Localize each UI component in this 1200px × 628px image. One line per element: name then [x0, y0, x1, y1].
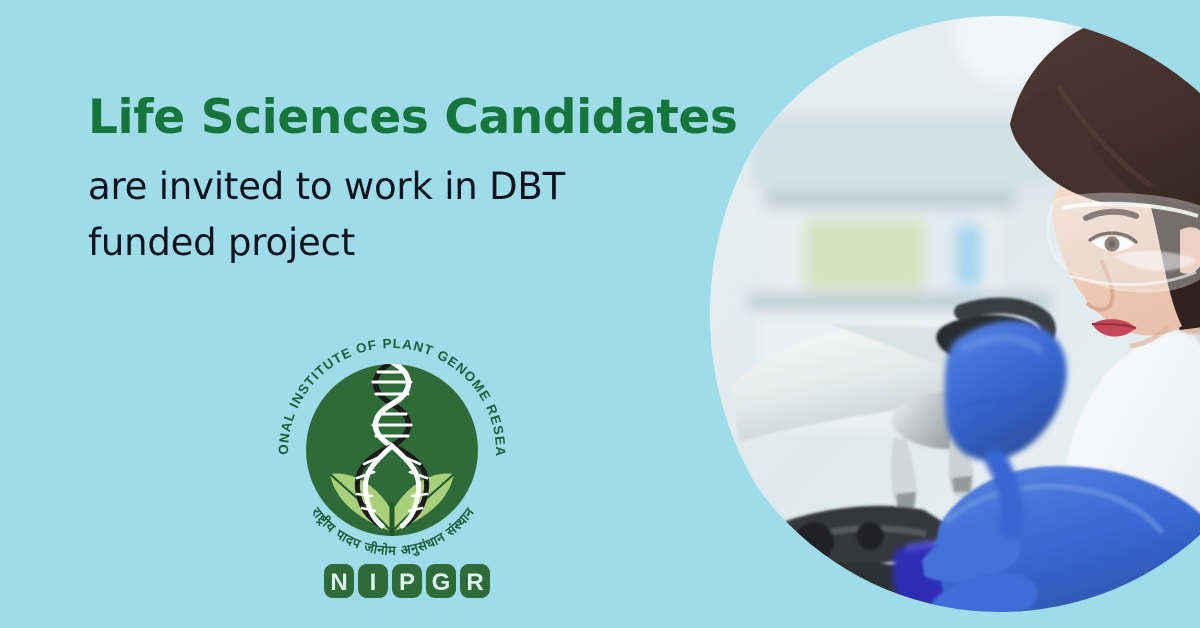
- text-block: Life Sciences Candidates are invited to …: [88, 92, 748, 271]
- acronym-letter: N: [330, 569, 347, 596]
- acronym-letter: I: [370, 569, 377, 596]
- acronym-letter: R: [466, 569, 483, 596]
- subheading-line-1: are invited to work in DBT: [88, 159, 748, 215]
- nipgr-logo: NATIONAL INSTITUTE OF PLANT GENOME RESEA…: [258, 306, 522, 606]
- acronym-letter: P: [399, 569, 415, 596]
- subheading-line-2: funded project: [88, 215, 748, 271]
- promotional-banner: Life Sciences Candidates are invited to …: [0, 0, 1200, 628]
- logo-acronym: N I P G R: [324, 564, 490, 598]
- page-title: Life Sciences Candidates: [88, 92, 748, 145]
- acronym-letter: G: [432, 569, 451, 596]
- scientist-at-microscope-photo: [710, 0, 1200, 628]
